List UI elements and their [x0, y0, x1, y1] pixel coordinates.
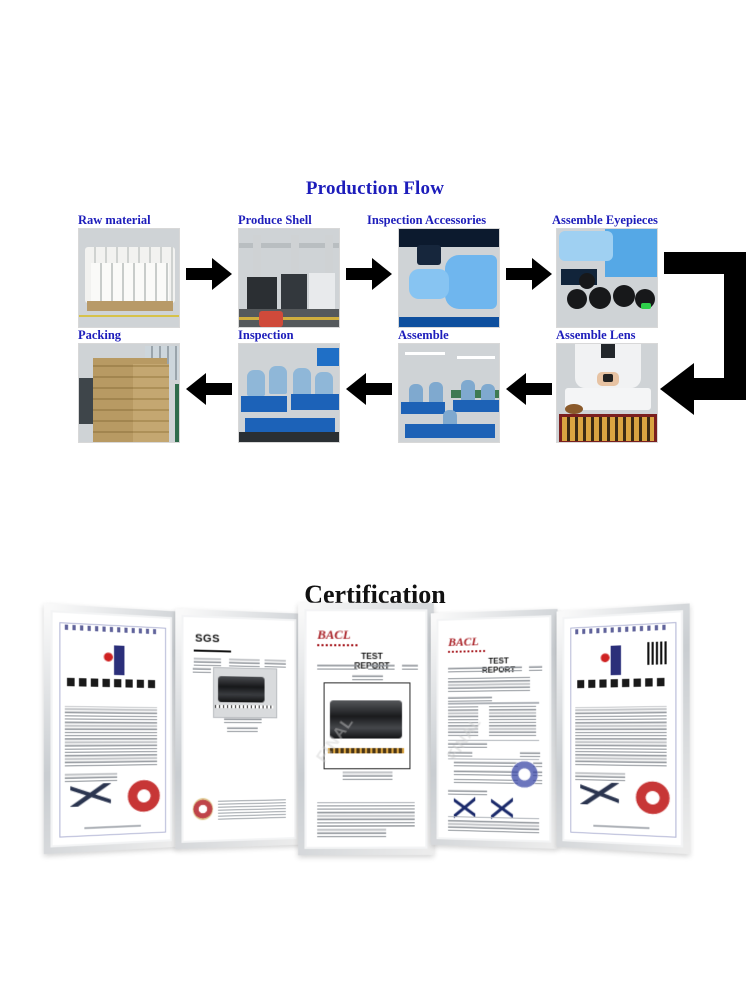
doc-title: TEST REPORT — [346, 651, 398, 661]
bacl-logo: BACL — [448, 635, 485, 651]
certificate-bacl-test-report-results[interactable]: BACL TEST REPORT — [431, 609, 558, 849]
flow-step-label: Produce Shell — [238, 213, 340, 228]
arrow-assemble-to-inspection-icon — [346, 373, 392, 405]
certificate-paper — [53, 612, 170, 845]
arrow-raw-to-shell-icon — [186, 258, 232, 290]
bacl-logo: BACL — [317, 628, 357, 645]
assemble-photo[interactable] — [398, 343, 500, 443]
certificate-design-patent-left[interactable] — [44, 603, 178, 854]
certificate-gallery: SGS BACL TEST REPORT — [45, 610, 705, 860]
flow-step-label: Packing — [78, 328, 180, 343]
flow-step-inspection-accessories[interactable]: Inspection Accessories — [398, 213, 500, 328]
flow-step-assemble[interactable]: Assemble — [398, 328, 500, 443]
packing-photo[interactable] — [78, 343, 180, 443]
flow-step-raw-material[interactable]: Raw material — [78, 213, 180, 328]
flow-step-produce-shell[interactable]: Produce Shell — [238, 213, 340, 328]
arrow-shell-to-inspection-accessories-icon — [346, 258, 392, 290]
arrow-inspection-to-packing-icon — [186, 373, 232, 405]
production-flow-section: Production Flow Raw material Produce She… — [0, 0, 750, 470]
certificate-paper: SGS — [184, 617, 295, 841]
flow-step-packing[interactable]: Packing — [78, 328, 180, 443]
flow-step-label: Inspection Accessories — [367, 213, 500, 228]
production-flow-title: Production Flow — [0, 178, 750, 200]
assemble-lens-photo[interactable] — [556, 343, 658, 443]
arrow-inspection-accessories-to-eyepieces-icon — [506, 258, 552, 290]
qr-code-icon — [647, 641, 669, 665]
flow-step-label: Raw material — [78, 213, 180, 228]
certificate-frame: BACL TEST REPORT — [431, 609, 558, 849]
raw-material-photo[interactable] — [78, 228, 180, 328]
flow-step-label: Inspection — [238, 328, 340, 343]
certification-section: Certification SGS — [0, 470, 750, 1000]
certificate-sgs-test-report[interactable]: SGS — [175, 609, 302, 850]
flow-step-label: Assemble — [398, 328, 500, 343]
certificate-bacl-test-report-photo[interactable]: BACL TEST REPORT FINAL — [298, 603, 434, 856]
certificate-paper: BACL TEST REPORT FINAL — [307, 611, 426, 847]
certificate-frame — [557, 603, 690, 854]
flow-step-assemble-lens[interactable]: Assemble Lens — [556, 328, 658, 443]
flow-step-label: Assemble Lens — [556, 328, 658, 343]
sgs-logo: SGS — [195, 633, 229, 650]
certificate-design-patent-right[interactable] — [557, 603, 690, 854]
doc-title: TEST REPORT — [474, 656, 523, 666]
certificate-paper: BACL TEST REPORT — [438, 617, 549, 840]
flow-step-label: Assemble Eyepieces — [552, 213, 658, 228]
certificate-frame: BACL TEST REPORT FINAL — [298, 603, 434, 856]
arrow-eyepieces-to-lens-uturn-icon — [660, 250, 746, 415]
certificate-frame — [44, 603, 178, 854]
assemble-eyepieces-photo[interactable] — [556, 228, 658, 328]
inspection-accessories-photo[interactable] — [398, 228, 500, 328]
flow-step-inspection[interactable]: Inspection — [238, 328, 340, 443]
arrow-lens-to-assemble-icon — [506, 373, 552, 405]
inspection-photo[interactable] — [238, 343, 340, 443]
certificate-frame: SGS — [175, 609, 302, 850]
flow-step-assemble-eyepieces[interactable]: Assemble Eyepieces — [556, 213, 658, 328]
certificate-paper — [564, 612, 680, 845]
produce-shell-photo[interactable] — [238, 228, 340, 328]
